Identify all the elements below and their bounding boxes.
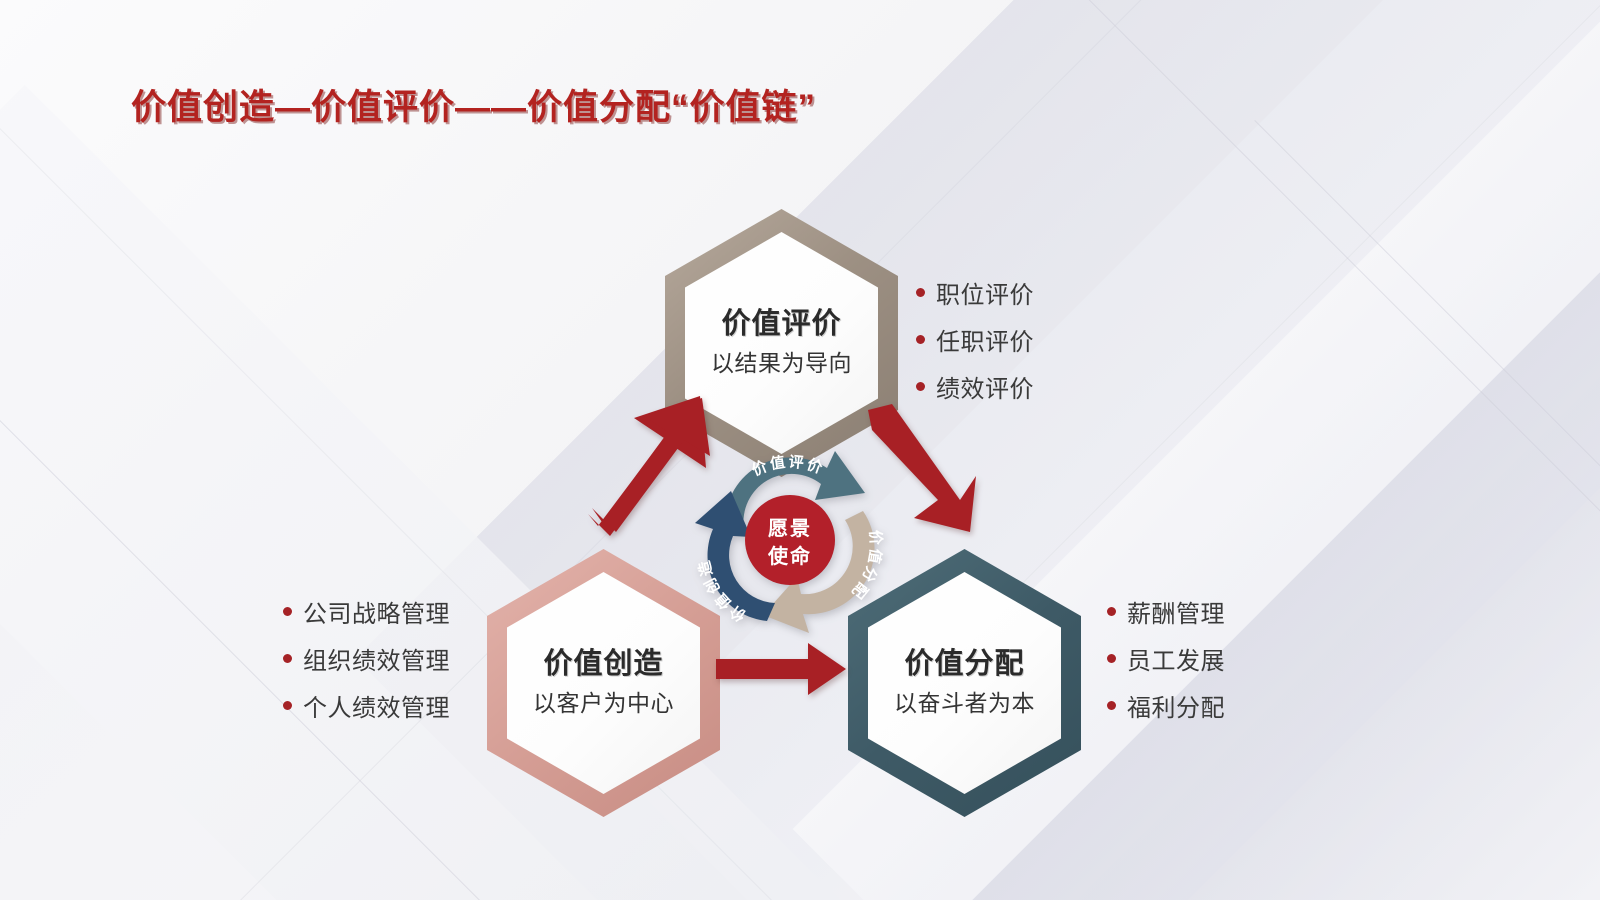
bullet-label: 任职评价	[936, 322, 1034, 357]
slide-title: 价值创造—价值评价——价值分配“价值链”	[131, 79, 816, 130]
list-item: 绩效评价	[916, 369, 1034, 404]
list-item: 福利分配	[1107, 688, 1225, 723]
bullet-dot-icon	[916, 288, 925, 297]
list-item: 薪酬管理	[1107, 594, 1225, 629]
bullet-label: 薪酬管理	[1127, 594, 1225, 629]
bullet-dot-icon	[1107, 654, 1116, 663]
bullet-dot-icon	[283, 701, 292, 710]
hexagon-inner-face: 价值创造 以客户为中心	[507, 572, 700, 794]
bullet-list-distribution: 薪酬管理 员工发展 福利分配	[1107, 594, 1225, 723]
list-item: 员工发展	[1107, 641, 1225, 676]
bullet-dot-icon	[1107, 607, 1116, 616]
arrow-creation-to-distribution-icon	[716, 643, 846, 695]
bullet-list-creation: 公司战略管理 组织绩效管理 个人绩效管理	[283, 594, 450, 723]
bullet-list-evaluation: 职位评价 任职评价 绩效评价	[916, 275, 1034, 404]
bullet-dot-icon	[916, 335, 925, 344]
bullet-dot-icon	[283, 607, 292, 616]
bullet-label: 组织绩效管理	[303, 641, 450, 676]
hexagon-title: 价值分配	[904, 648, 1024, 681]
bullet-label: 职位评价	[936, 275, 1034, 310]
hexagon-inner-face: 价值分配 以奋斗者为本	[868, 572, 1061, 794]
bullet-label: 福利分配	[1127, 688, 1225, 723]
hexagon-subtitle: 以客户为中心	[533, 684, 674, 718]
background-line	[1254, 120, 1600, 900]
list-item: 公司战略管理	[283, 594, 450, 629]
cycle-core-circle	[745, 495, 835, 585]
hexagon-title: 价值创造	[543, 648, 663, 681]
hexagon-subtitle: 以结果为导向	[711, 344, 852, 378]
bullet-dot-icon	[1107, 701, 1116, 710]
hexagon-subtitle: 以奋斗者为本	[894, 684, 1035, 718]
slide-canvas: 价值创造—价值评价——价值分配“价值链” 价值评价 以结果为导向 价值创造 以客…	[0, 0, 1600, 900]
bullet-label: 绩效评价	[936, 369, 1034, 404]
list-item: 个人绩效管理	[283, 688, 450, 723]
list-item: 组织绩效管理	[283, 641, 450, 676]
bullet-dot-icon	[283, 654, 292, 663]
bullet-label: 个人绩效管理	[303, 688, 450, 723]
bullet-dot-icon	[916, 382, 925, 391]
bullet-label: 公司战略管理	[303, 594, 450, 629]
list-item: 职位评价	[916, 275, 1034, 310]
hexagon-value-creation[interactable]: 价值创造 以客户为中心	[487, 549, 720, 817]
center-cycle-diagram[interactable]: 价值评价 价值分配 价值创造 愿景 使命	[687, 437, 893, 643]
cycle-core-line-1: 愿景	[768, 517, 812, 540]
bullet-label: 员工发展	[1127, 641, 1225, 676]
hexagon-title: 价值评价	[721, 308, 841, 341]
list-item: 任职评价	[916, 322, 1034, 357]
cycle-core-line-2: 使命	[767, 544, 812, 568]
hexagon-inner-face: 价值评价 以结果为导向	[685, 232, 878, 454]
